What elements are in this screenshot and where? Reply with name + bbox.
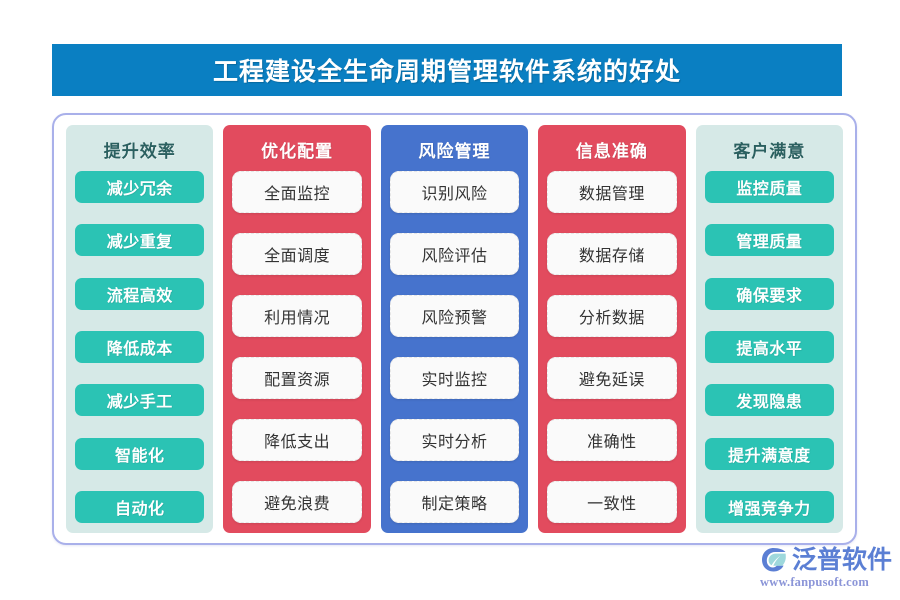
benefit-item[interactable]: 确保要求: [705, 278, 834, 310]
page-title: 工程建设全生命周期管理软件系统的好处: [213, 52, 681, 88]
category-columns: 提升效率减少冗余减少重复流程高效降低成本减少手工智能化自动化优化配置全面监控全面…: [66, 125, 843, 533]
benefit-item[interactable]: 数据存储: [547, 233, 676, 275]
benefit-item[interactable]: 减少冗余: [75, 171, 204, 203]
benefit-item[interactable]: 风险评估: [390, 233, 519, 275]
benefit-item[interactable]: 避免浪费: [232, 481, 361, 523]
benefit-item[interactable]: 自动化: [75, 491, 204, 523]
benefit-item[interactable]: 制定策略: [390, 481, 519, 523]
benefit-item[interactable]: 监控质量: [705, 171, 834, 203]
benefit-item[interactable]: 减少手工: [75, 384, 204, 416]
category-heading: 提升效率: [104, 137, 176, 162]
logo-name: 泛普软件: [792, 548, 892, 573]
benefit-item[interactable]: 降低支出: [232, 419, 361, 461]
category-heading: 优化配置: [261, 137, 333, 162]
benefit-item[interactable]: 风险预警: [390, 295, 519, 337]
benefit-item[interactable]: 降低成本: [75, 331, 204, 363]
category-heading: 客户满意: [733, 137, 805, 162]
benefit-item[interactable]: 提高水平: [705, 331, 834, 363]
benefit-item[interactable]: 提升满意度: [705, 438, 834, 470]
benefits-card: 提升效率减少冗余减少重复流程高效降低成本减少手工智能化自动化优化配置全面监控全面…: [52, 113, 857, 545]
category-heading: 信息准确: [576, 137, 648, 162]
benefit-item[interactable]: 识别风险: [390, 171, 519, 213]
benefit-item[interactable]: 数据管理: [547, 171, 676, 213]
benefit-item[interactable]: 全面调度: [232, 233, 361, 275]
category-column: 风险管理识别风险风险评估风险预警实时监控实时分析制定策略: [381, 125, 528, 533]
category-heading: 风险管理: [419, 137, 491, 162]
benefit-list: 监控质量管理质量确保要求提高水平发现隐患提升满意度增强竞争力: [705, 171, 834, 523]
benefit-item[interactable]: 一致性: [547, 481, 676, 523]
category-column: 提升效率减少冗余减少重复流程高效降低成本减少手工智能化自动化: [66, 125, 213, 533]
logo-row: 泛普软件: [760, 546, 895, 574]
fanpu-swoosh-icon: [760, 546, 788, 574]
benefit-item[interactable]: 分析数据: [547, 295, 676, 337]
benefit-list: 数据管理数据存储分析数据避免延误准确性一致性: [547, 171, 676, 523]
benefit-item[interactable]: 避免延误: [547, 357, 676, 399]
category-column: 客户满意监控质量管理质量确保要求提高水平发现隐患提升满意度增强竞争力: [696, 125, 843, 533]
category-column: 信息准确数据管理数据存储分析数据避免延误准确性一致性: [538, 125, 685, 533]
benefit-item[interactable]: 配置资源: [232, 357, 361, 399]
category-column: 优化配置全面监控全面调度利用情况配置资源降低支出避免浪费: [223, 125, 370, 533]
brand-logo: 泛普软件 www.fanpusoft.com: [760, 546, 895, 594]
benefit-item[interactable]: 准确性: [547, 419, 676, 461]
benefit-item[interactable]: 增强竞争力: [705, 491, 834, 523]
benefit-item[interactable]: 全面监控: [232, 171, 361, 213]
benefit-list: 识别风险风险评估风险预警实时监控实时分析制定策略: [390, 171, 519, 523]
benefit-item[interactable]: 实时监控: [390, 357, 519, 399]
benefit-item[interactable]: 发现隐患: [705, 384, 834, 416]
benefit-list: 减少冗余减少重复流程高效降低成本减少手工智能化自动化: [75, 171, 204, 523]
benefit-item[interactable]: 流程高效: [75, 278, 204, 310]
benefit-item[interactable]: 利用情况: [232, 295, 361, 337]
logo-url: www.fanpusoft.com: [760, 575, 895, 590]
title-banner: 工程建设全生命周期管理软件系统的好处: [52, 44, 842, 96]
benefit-item[interactable]: 智能化: [75, 438, 204, 470]
benefit-item[interactable]: 减少重复: [75, 224, 204, 256]
benefit-list: 全面监控全面调度利用情况配置资源降低支出避免浪费: [232, 171, 361, 523]
benefit-item[interactable]: 管理质量: [705, 224, 834, 256]
benefit-item[interactable]: 实时分析: [390, 419, 519, 461]
